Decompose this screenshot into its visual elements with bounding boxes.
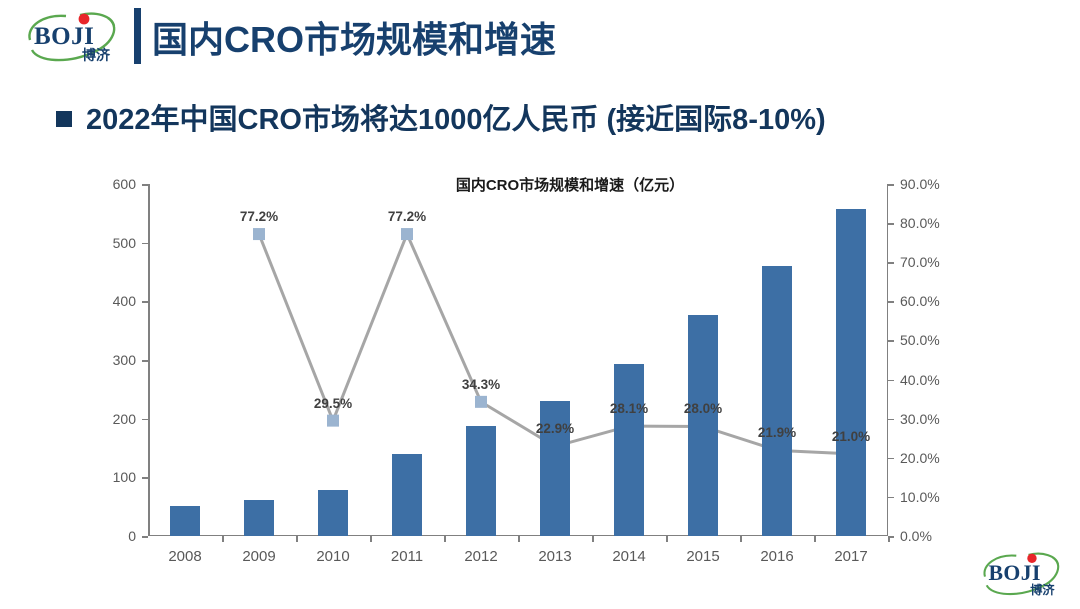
data-point-label: 21.9% (758, 425, 796, 440)
x-axis-label: 2012 (464, 548, 497, 565)
x-axis-tick (592, 536, 594, 542)
chart-bar (762, 266, 792, 536)
y2-axis-label: 40.0% (900, 372, 940, 388)
page-title: 国内CRO市场规模和增速 (152, 11, 556, 63)
x-axis-label: 2017 (834, 548, 867, 565)
chart-bar (392, 454, 422, 536)
y-axis-label: 200 (113, 411, 136, 427)
boji-logo-icon: BOJI 博济 (22, 6, 130, 68)
x-axis-label: 2014 (612, 548, 645, 565)
y2-axis-tick (888, 458, 894, 460)
y2-axis-label: 20.0% (900, 450, 940, 466)
bullet-square-icon (56, 111, 72, 127)
chart-bar (688, 315, 718, 536)
x-axis-label: 2010 (316, 548, 349, 565)
y2-axis-tick (888, 223, 894, 225)
line-marker (475, 396, 487, 408)
y-axis-tick (142, 301, 148, 303)
x-axis-tick (518, 536, 520, 542)
x-axis-label: 2015 (686, 548, 719, 565)
page-header: BOJI 博济 国内CRO市场规模和增速 (0, 0, 1080, 78)
y2-axis-label: 60.0% (900, 293, 940, 309)
subtitle-text: 2022年中国CRO市场将达1000亿人民币 (接近国际8-10%) (86, 96, 826, 138)
x-axis-tick (296, 536, 298, 542)
y2-axis-tick (888, 497, 894, 499)
y2-axis-label: 0.0% (900, 528, 932, 544)
subtitle-row: 2022年中国CRO市场将达1000亿人民币 (接近国际8-10%) (56, 96, 826, 138)
x-axis-tick (444, 536, 446, 542)
y-axis-label: 500 (113, 235, 136, 251)
y2-axis-label: 50.0% (900, 332, 940, 348)
x-axis-tick (740, 536, 742, 542)
brand-logo: BOJI 博济 (22, 6, 130, 68)
chart-bar (614, 364, 644, 536)
chart-bar (836, 209, 866, 536)
data-point-label: 77.2% (388, 209, 426, 224)
data-point-label: 21.0% (832, 429, 870, 444)
y2-axis-label: 30.0% (900, 411, 940, 427)
boji-logo-icon-footer: BOJI 博济 (978, 544, 1072, 604)
y-axis-label: 100 (113, 469, 136, 485)
data-point-label: 28.0% (684, 401, 722, 416)
x-axis-tick (814, 536, 816, 542)
data-point-label: 34.3% (462, 377, 500, 392)
chart-bar (170, 506, 200, 537)
line-marker (401, 228, 413, 240)
x-axis-label: 2008 (168, 548, 201, 565)
chart-bar (244, 500, 274, 536)
x-axis-label: 2013 (538, 548, 571, 565)
footer-brand-logo: BOJI 博济 (978, 544, 1072, 604)
x-axis-label: 2011 (391, 548, 423, 565)
y2-axis-label: 10.0% (900, 489, 940, 505)
y-axis-tick (142, 477, 148, 479)
y-axis-tick (142, 536, 148, 538)
chart-bar (466, 426, 496, 536)
svg-text:博济: 博济 (1030, 582, 1055, 597)
data-point-label: 29.5% (314, 396, 352, 411)
y-axis-label: 600 (113, 176, 136, 192)
svg-text:BOJI: BOJI (988, 561, 1041, 585)
y-axis-tick (142, 184, 148, 186)
y-axis-tick (142, 243, 148, 245)
x-axis-tick (222, 536, 224, 542)
y-axis-label: 400 (113, 293, 136, 309)
y2-axis-tick (888, 184, 894, 186)
y2-axis-tick (888, 340, 894, 342)
data-point-label: 22.9% (536, 421, 574, 436)
y-axis-tick (142, 419, 148, 421)
line-marker (327, 415, 339, 427)
x-axis-tick (888, 536, 890, 542)
y2-axis-label: 80.0% (900, 215, 940, 231)
data-point-label: 28.1% (610, 401, 648, 416)
y2-axis-tick (888, 380, 894, 382)
svg-text:BOJI: BOJI (34, 23, 94, 50)
y2-axis-tick (888, 419, 894, 421)
x-axis-label: 2009 (242, 548, 275, 565)
chart-bar (318, 490, 348, 536)
chart-container: 国内CRO市场规模和增速（亿元） 01002003004005006000.0%… (0, 168, 1080, 568)
header-divider (134, 8, 141, 64)
y-axis-label: 0 (128, 528, 136, 544)
y2-axis-tick (888, 262, 894, 264)
data-point-label: 77.2% (240, 209, 278, 224)
y2-axis-tick (888, 301, 894, 303)
y-axis-label: 300 (113, 352, 136, 368)
x-axis-label: 2016 (760, 548, 793, 565)
y2-axis-label: 70.0% (900, 254, 940, 270)
x-axis-tick (370, 536, 372, 542)
chart-plot-area: 01002003004005006000.0%10.0%20.0%30.0%40… (148, 184, 888, 536)
y-axis-tick (142, 360, 148, 362)
line-marker (253, 228, 265, 240)
y2-axis-label: 90.0% (900, 176, 940, 192)
x-axis-tick (666, 536, 668, 542)
svg-text:博济: 博济 (82, 47, 111, 63)
